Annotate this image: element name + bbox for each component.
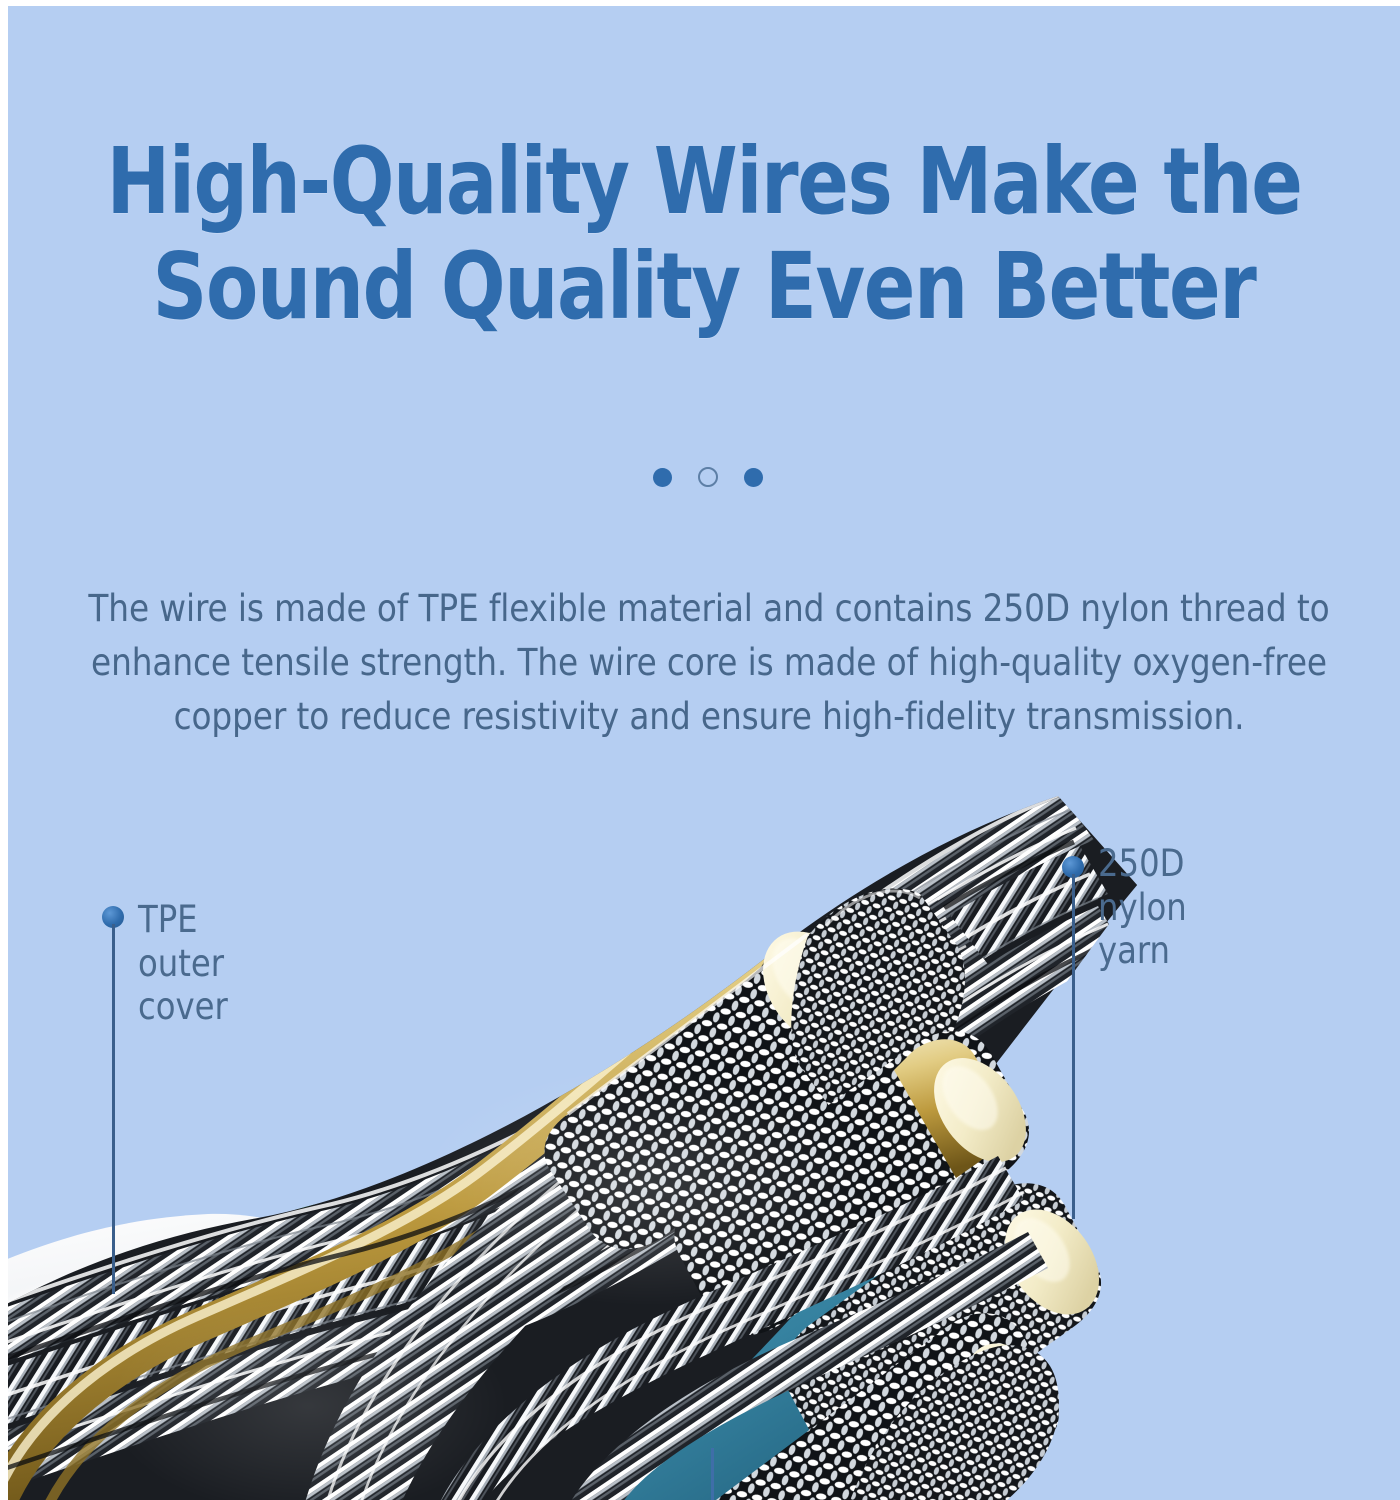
callout-leader-line [1072, 874, 1075, 1219]
dot-ornament [8, 467, 1400, 487]
callout-label-nylon-yarn: 250D nylon yarn [1098, 842, 1187, 973]
ornament-dot-filled-left [653, 468, 672, 487]
cable-cross-section-illustration [8, 766, 1400, 1500]
infographic-page: High-Quality Wires Make the Sound Qualit… [0, 0, 1400, 1500]
product-photo [8, 766, 1400, 1500]
ornament-dot-hollow-center [698, 467, 718, 487]
ornament-dot-filled-right [744, 468, 763, 487]
callout-leader-line [711, 1448, 714, 1500]
callout-label-tpe-outer-cover: TPE outer cover [138, 898, 228, 1029]
callout-leader-line [112, 924, 115, 1294]
body-paragraph: The wire is made of TPE flexible materia… [64, 581, 1354, 743]
content-panel: High-Quality Wires Make the Sound Qualit… [8, 6, 1400, 1500]
page-title: High-Quality Wires Make the Sound Qualit… [100, 130, 1307, 340]
